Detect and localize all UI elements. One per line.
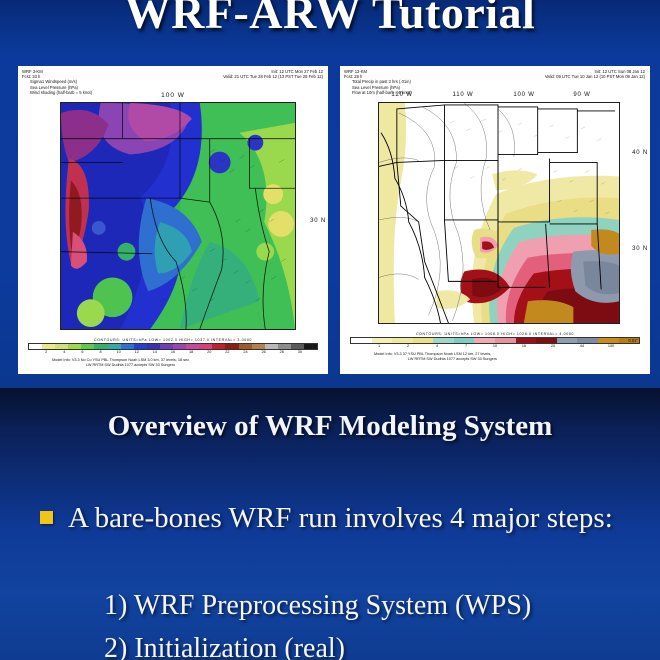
- colorbar-left-ticks: 24681012141618202224262830: [28, 350, 318, 356]
- bullet-list: A bare-bones WRF run involves 4 major st…: [40, 498, 630, 539]
- colorbar-left: CONTOURS: UNITS=hPa LOW= 1002.0 HIGH= 10…: [28, 338, 318, 368]
- colorbar-tick: 14: [153, 350, 157, 354]
- bullet-text: A bare-bones WRF run involves 4 major st…: [68, 502, 613, 534]
- colorbar-swatch: [81, 344, 94, 349]
- colorbar-swatch: [265, 344, 278, 349]
- colorbar-swatch: [121, 344, 134, 349]
- colorbar-swatch: [225, 344, 238, 349]
- colorbar-tick: 16: [171, 350, 175, 354]
- colorbar-swatch: [212, 344, 225, 349]
- colorbar-tick: 7: [465, 344, 467, 348]
- colorbar-swatch: [160, 344, 173, 349]
- colorbar-tick: 4: [63, 350, 65, 354]
- colorbar-swatch: [94, 344, 107, 349]
- colorbar-swatch: [108, 344, 121, 349]
- colorbar-swatch: [372, 338, 393, 343]
- colorbar-swatch: [598, 338, 619, 343]
- colorbar-swatch: [186, 344, 199, 349]
- map-precipitation-canvas: [379, 103, 619, 323]
- model-info-right-line2: LW RRTM SW Dudhia 1077 accepts SW 33 Sun…: [350, 357, 640, 362]
- bullet-square-icon: [40, 511, 53, 524]
- figure-panel-right: WRF 12-KM Init: 12 UTC Sun 08 Jan 12 Fcs…: [340, 66, 650, 374]
- colorbar-tick: 16: [522, 344, 526, 348]
- model-info-left-line2: LW RRTM SW Dudhia 1077 accepts SW 33 Sun…: [28, 363, 318, 368]
- colorbar-tick: 8: [99, 350, 101, 354]
- left-lon-label-100w: 100 W: [18, 92, 328, 99]
- right-lat-label-30n: 30 N: [632, 246, 648, 252]
- colorbar-tick: 18: [189, 350, 193, 354]
- colorbar-swatch: [454, 338, 475, 343]
- colorbar-swatch: [516, 338, 537, 343]
- colorbar-swatch: [239, 344, 252, 349]
- colorbar-swatch: [413, 338, 434, 343]
- colorbar-swatch: [278, 344, 291, 349]
- colorbar-tick: 20: [207, 350, 211, 354]
- list-item: 1) WRF Preprocessing System (WPS): [104, 584, 660, 627]
- section-heading: Overview of WRF Modeling System: [0, 410, 660, 443]
- colorbar-swatch: [68, 344, 81, 349]
- left-lat-label-30n: 30 N: [310, 218, 326, 224]
- colorbar-swatch: [495, 338, 516, 343]
- colorbar-tick: 1: [378, 344, 380, 348]
- colorbar-tick: 100: [608, 344, 614, 348]
- colorbar-tick: 2: [45, 350, 47, 354]
- presentation-slide: WRF-ARW Tutorial WRF 3-KM Init: 12 UTC M…: [0, 0, 660, 660]
- colorbar-tick: 10: [493, 344, 497, 348]
- colorbar-tick: 22: [225, 350, 229, 354]
- page-title: WRF-ARW Tutorial: [0, 0, 660, 39]
- model-info-left: Model Info: V3.3 No Cu YSU PBL Thompson …: [28, 358, 318, 368]
- colorbar-swatch: [147, 344, 160, 349]
- colorbar-swatch: [134, 344, 147, 349]
- map-precipitation: [378, 102, 620, 324]
- colorbar-swatch: [557, 338, 578, 343]
- colorbar-tick: 6: [81, 350, 83, 354]
- colorbar-swatch: [392, 338, 413, 343]
- colorbar-swatch: [433, 338, 454, 343]
- colorbar-swatch: [351, 338, 372, 343]
- right-lon-labels: 120 W 110 W 100 W 90 W: [340, 92, 650, 100]
- colorbar-swatch: [577, 338, 598, 343]
- right-lon-label-100w: 100 W: [513, 92, 534, 98]
- colorbar-tick: 30: [298, 350, 302, 354]
- right-lon-label-90w: 90 W: [573, 92, 590, 98]
- colorbar-tick: 28: [280, 350, 284, 354]
- colorbar-tick: 24: [243, 350, 247, 354]
- colorbar-swatch: [173, 344, 186, 349]
- colorbar-swatch: [55, 344, 68, 349]
- right-lon-label-120w: 120 W: [391, 92, 412, 98]
- colorbar-right-ticks: 124710162044100: [350, 344, 640, 350]
- list-item: 2) Initialization (real): [104, 627, 660, 660]
- colorbar-right-swatches: [350, 337, 640, 344]
- colorbar-swatch: [29, 344, 42, 349]
- colorbar-swatch: [252, 344, 265, 349]
- colorbar-tick: 10: [117, 350, 121, 354]
- right-lat-label-40n: 40 N: [632, 150, 648, 156]
- colorbar-tick: 26: [262, 350, 266, 354]
- list-item: A bare-bones WRF run involves 4 major st…: [40, 498, 630, 539]
- colorbar-left-unit: m s-1: [306, 344, 316, 349]
- steps-list: 1) WRF Preprocessing System (WPS) 2) Ini…: [104, 584, 660, 660]
- colorbar-swatch: [536, 338, 557, 343]
- colorbar-swatch: [42, 344, 55, 349]
- colorbar-swatch: [474, 338, 495, 343]
- right-lon-label-110w: 110 W: [453, 92, 474, 98]
- colorbar-right-unit: 0.01": [628, 338, 638, 343]
- colorbar-swatch: [291, 344, 304, 349]
- colorbar-tick: 44: [580, 344, 584, 348]
- colorbar-tick: 12: [135, 350, 139, 354]
- map-windspeed-canvas: [61, 103, 295, 329]
- figure-panel-left: WRF 3-KM Init: 12 UTC Mon 27 Feb 12 Fcst…: [18, 66, 328, 374]
- colorbar-tick: 4: [436, 344, 438, 348]
- colorbar-right: CONTOURS: UNITS=hPa LOW= 1008.0 HIGH= 10…: [350, 332, 640, 362]
- colorbar-tick: 20: [551, 344, 555, 348]
- map-windspeed: [60, 102, 296, 330]
- content-section: Overview of WRF Modeling System A bare-b…: [0, 388, 660, 660]
- colorbar-left-swatches: [28, 343, 318, 350]
- model-info-right: Model Info: V3.3 37 YSU PBL Thompson Noa…: [350, 352, 640, 362]
- title-band: WRF-ARW Tutorial WRF 3-KM Init: 12 UTC M…: [0, 0, 660, 388]
- colorbar-tick: 2: [407, 344, 409, 348]
- colorbar-swatch: [199, 344, 212, 349]
